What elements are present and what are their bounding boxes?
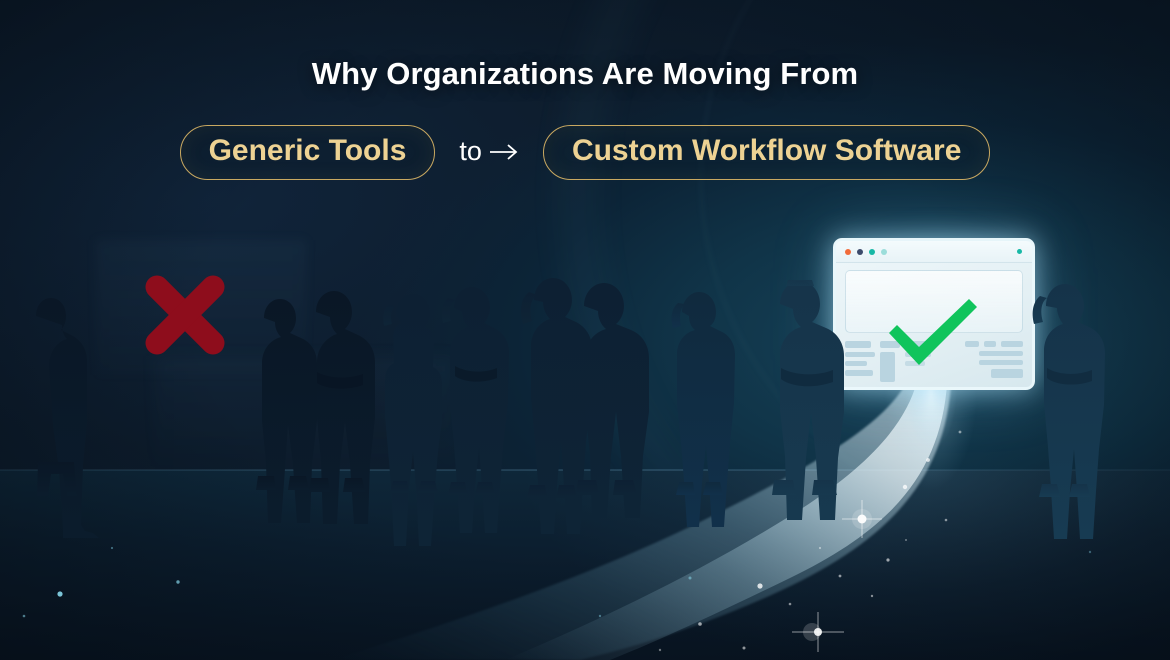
window-body — [836, 263, 1032, 390]
window-status-dot-icon — [1017, 249, 1022, 254]
connector-label: to — [459, 138, 482, 165]
red-x-icon — [142, 272, 228, 358]
poster-canvas: Why Organizations Are Moving From Generi… — [0, 0, 1170, 660]
background-wall-panel-secondary — [155, 356, 455, 476]
traffic-light-maximize-icon[interactable] — [869, 249, 875, 255]
green-checkmark-icon — [881, 293, 985, 369]
floor-horizon-line — [0, 469, 1170, 471]
traffic-light-close-icon[interactable] — [845, 249, 851, 255]
pill-generic-tools: Generic Tools — [180, 125, 436, 180]
window-titlebar — [836, 241, 1032, 263]
comparison-row: Generic Tools to Custom Workflow Softwar… — [0, 125, 1170, 180]
headline-block: Why Organizations Are Moving From — [0, 58, 1170, 89]
traffic-light-extra-icon[interactable] — [881, 249, 887, 255]
transition-connector: to — [459, 138, 519, 167]
arrow-right-icon — [489, 143, 519, 161]
page-title: Why Organizations Are Moving From — [0, 58, 1170, 89]
browser-window-mockup[interactable] — [833, 238, 1035, 390]
pill-custom-workflow-software: Custom Workflow Software — [543, 125, 990, 180]
traffic-light-minimize-icon[interactable] — [857, 249, 863, 255]
floor-surface — [0, 470, 1170, 660]
